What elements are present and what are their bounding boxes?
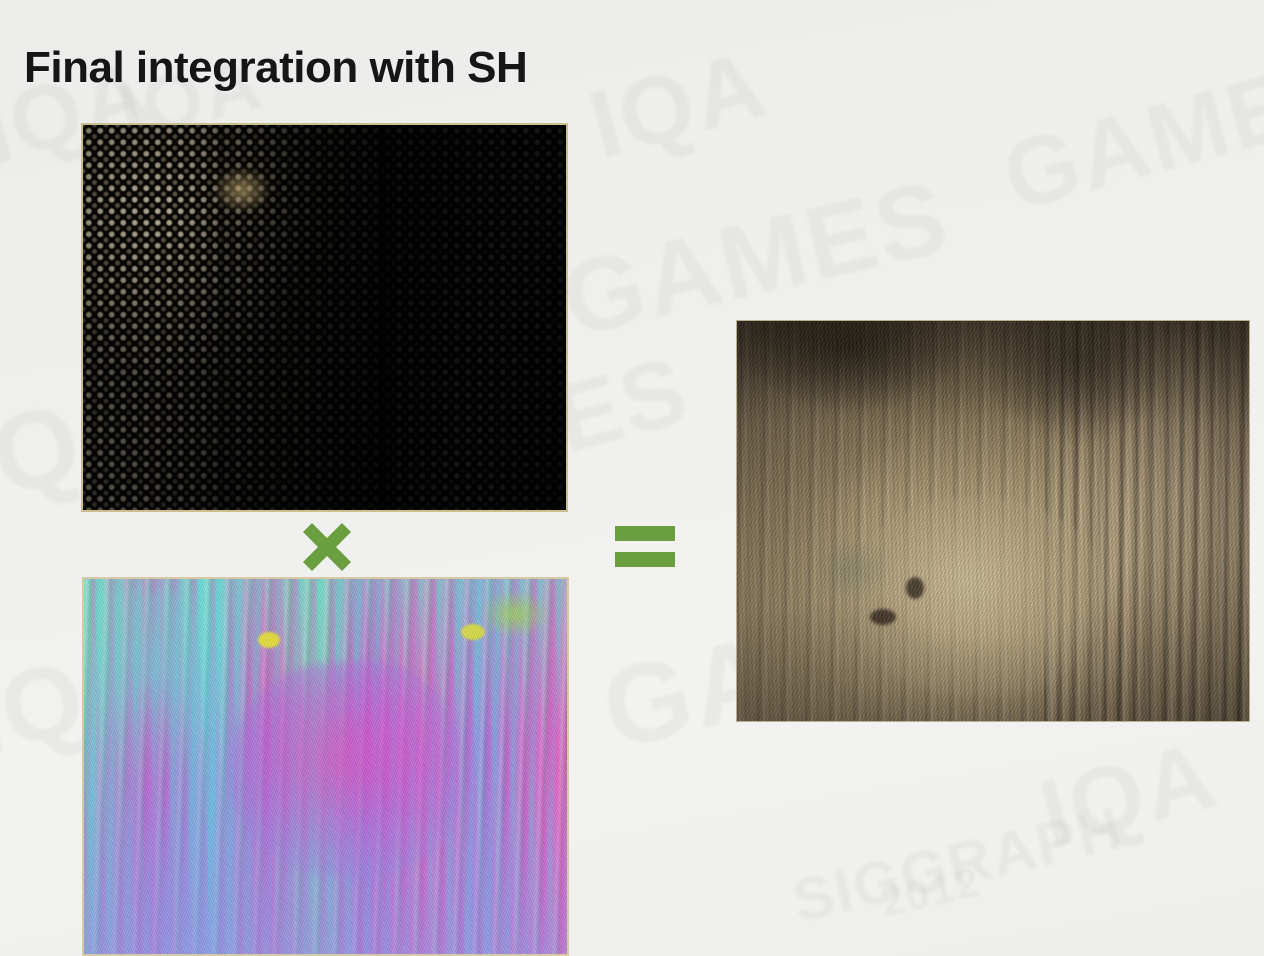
highlight-hotspot [213, 167, 271, 213]
watermark-text: IQA [1029, 720, 1227, 869]
equals-bar-top [615, 526, 675, 541]
surface-noise [84, 579, 567, 954]
vertical-crease [83, 125, 566, 510]
equals-bar-bottom [615, 552, 675, 567]
vignette [737, 321, 1249, 721]
multiply-operator-icon [299, 519, 355, 575]
slide-title: Final integration with SH [24, 43, 527, 94]
watermark-text: IQA [579, 29, 778, 181]
equals-operator-icon [615, 521, 675, 573]
figure-normal-map [82, 577, 569, 956]
figure-visibility-map [81, 123, 568, 512]
watermark-text: SIGGRAPH [787, 793, 1130, 936]
watermark-text: 2012 [876, 857, 986, 927]
slide-background: IQA IQA IQA GAMES GAMES IQA GAMES IQA GA… [0, 0, 1264, 956]
figure-final-render [736, 320, 1250, 722]
watermark-text: GAMES [992, 33, 1264, 233]
